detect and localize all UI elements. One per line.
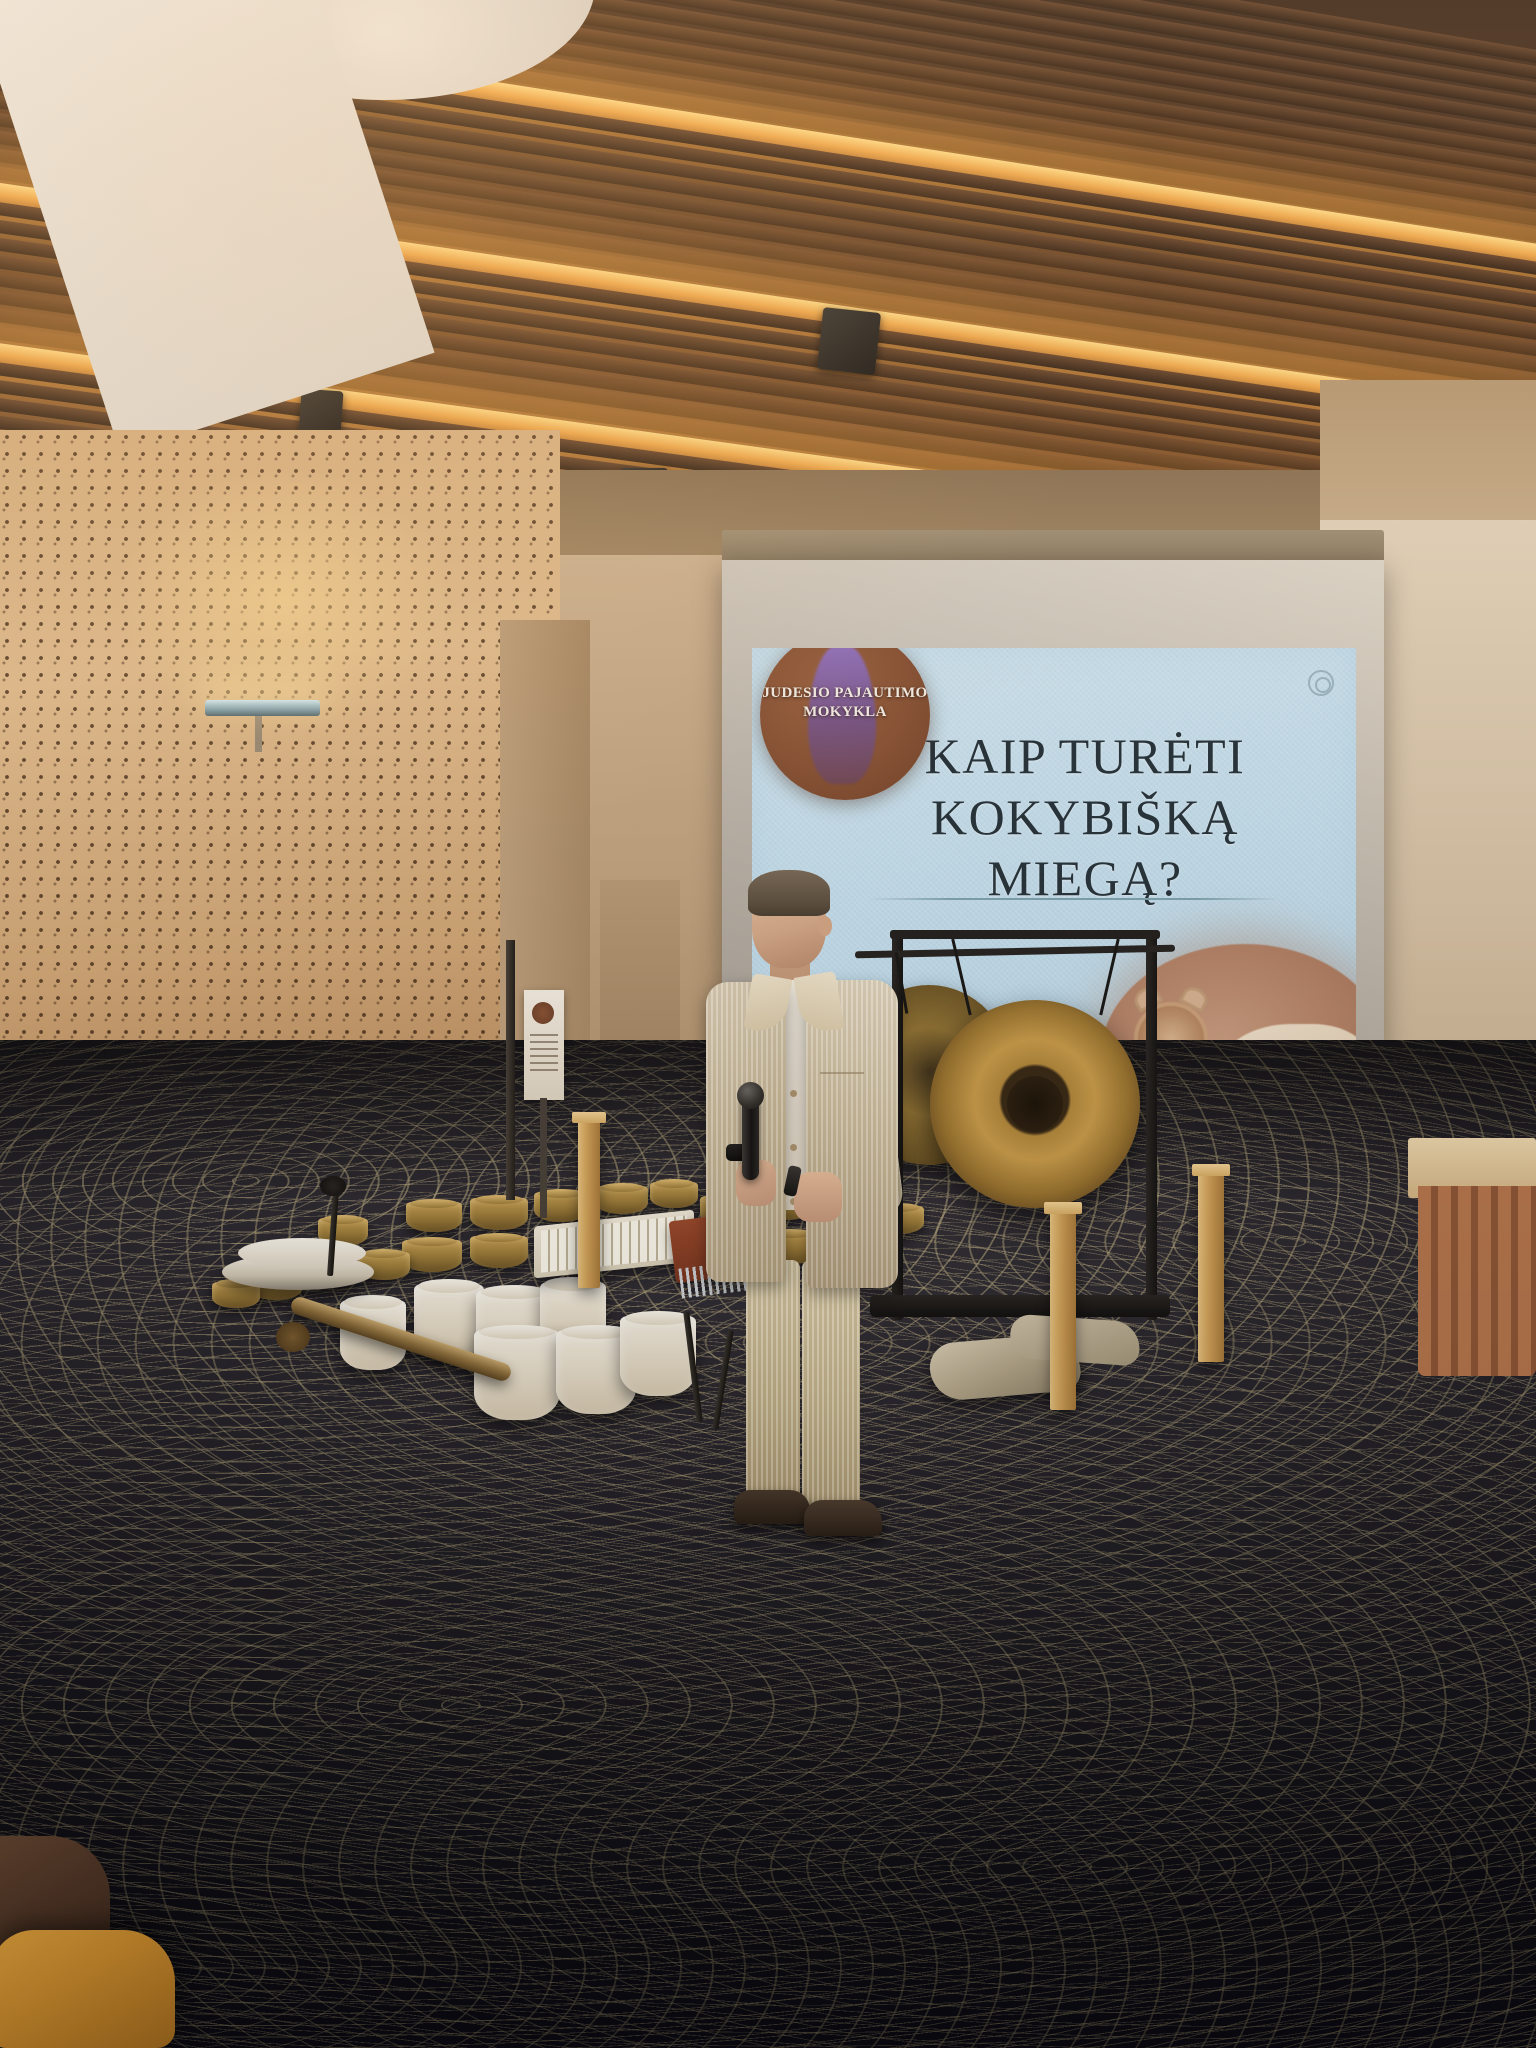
microphone-head <box>737 1082 764 1109</box>
logo-text-line-1: JUDESIO PAJAUTIMO <box>760 684 930 703</box>
wood-post-left-cap <box>1044 1202 1082 1214</box>
banner-stand-pole <box>506 940 515 1200</box>
presenter-shoe-left <box>734 1490 810 1524</box>
brass-singing-bowl-2 <box>470 1198 528 1230</box>
circular-emblem-icon <box>1308 670 1334 696</box>
presenter-hand-gesturing <box>794 1172 842 1222</box>
presenter-jacket-button-2 <box>790 1144 797 1151</box>
logo-text: JUDESIO PAJAUTIMO MOKYKLA <box>760 684 930 722</box>
presenter-trouser-left <box>746 1260 800 1502</box>
presenter-jacket-pocket <box>820 1072 864 1108</box>
wood-post-far-left-cap <box>572 1112 606 1123</box>
right-wall-upper <box>1320 380 1536 540</box>
brass-singing-bowl-4 <box>596 1186 648 1214</box>
wall-light-bracket <box>255 712 262 752</box>
presenter-hair <box>748 870 830 916</box>
frame-drum-skin <box>238 1238 366 1268</box>
brass-singing-bowl-6 <box>402 1240 462 1272</box>
foreground-boot <box>0 1930 175 2048</box>
banner-logo-icon <box>532 1002 554 1024</box>
wall-light-glow <box>120 470 450 730</box>
brass-singing-bowl-1 <box>406 1202 462 1232</box>
presenter-ear <box>818 916 832 936</box>
gong-stand-post-right <box>1146 930 1157 1320</box>
event-banner <box>524 990 564 1100</box>
presenter-trouser-right <box>802 1260 860 1510</box>
banner-pole-lower <box>540 1098 547 1218</box>
wood-post-right-cap <box>1192 1164 1230 1176</box>
mallet-head <box>320 1176 346 1196</box>
photograph-scene: KAIP TURĖTI KOKYBIŠKĄ MIEGĄ? JUDESIO PAJ… <box>0 0 1536 2048</box>
wall-light-fixture <box>205 700 320 716</box>
brass-singing-bowl-7 <box>470 1236 528 1268</box>
wood-post-right <box>1198 1172 1224 1362</box>
presenter-shoe-right <box>804 1500 882 1536</box>
banner-text-lines <box>530 1034 558 1074</box>
presenter-jacket-button-1 <box>790 1090 797 1097</box>
ceiling-speaker <box>817 307 881 375</box>
didgeridoo-mouthpiece <box>276 1322 310 1352</box>
side-table-skirt <box>1418 1186 1536 1376</box>
gong-large <box>930 1000 1140 1208</box>
wood-post-far-left <box>578 1120 600 1288</box>
gong-large-center <box>1007 1076 1063 1132</box>
slide-divider-rule <box>868 898 1280 900</box>
logo-text-line-2: MOKYKLA <box>760 703 930 722</box>
wood-post-left <box>1050 1210 1076 1410</box>
presenter <box>690 876 910 1566</box>
metallophone-bars <box>541 1215 687 1272</box>
gong-stand-base <box>870 1295 1170 1317</box>
gong-stand-crossbar <box>890 930 1160 939</box>
